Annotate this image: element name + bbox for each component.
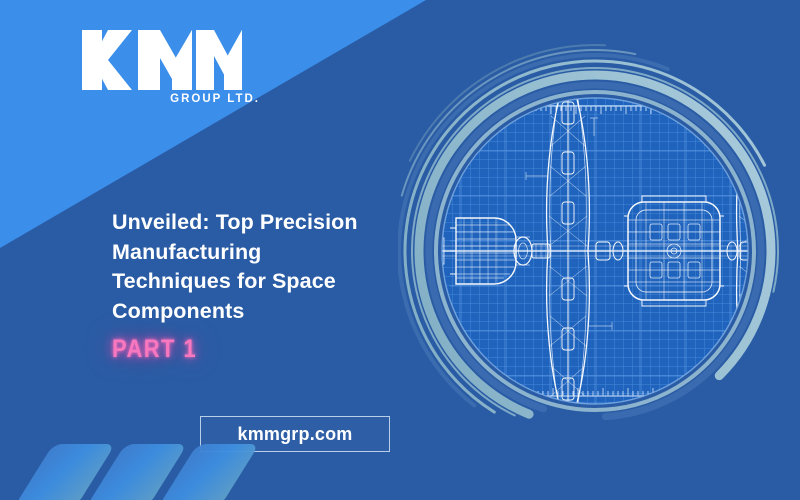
kmm-wordmark-icon (80, 28, 250, 92)
brand-subtitle: GROUP LTD. (170, 94, 260, 106)
part-badge: PART 1 (112, 337, 197, 362)
diagonal-accent-stripes (0, 430, 240, 500)
page-title: Unveiled: Top Precision Manufacturing Te… (112, 208, 422, 327)
headline-line-4: Components (112, 297, 422, 327)
headline-line-2: Manufacturing (112, 238, 422, 268)
headline-line-3: Techniques for Space (112, 267, 422, 297)
promo-banner: GROUP LTD. Unveiled: Top Precision Manuf… (0, 0, 800, 500)
spacecraft-blueprint-artwork (398, 6, 798, 496)
brand-logo[interactable]: GROUP LTD. (80, 28, 260, 92)
website-url-label: kmmgrp.com (237, 424, 352, 445)
headline-line-1: Unveiled: Top Precision (112, 208, 422, 238)
